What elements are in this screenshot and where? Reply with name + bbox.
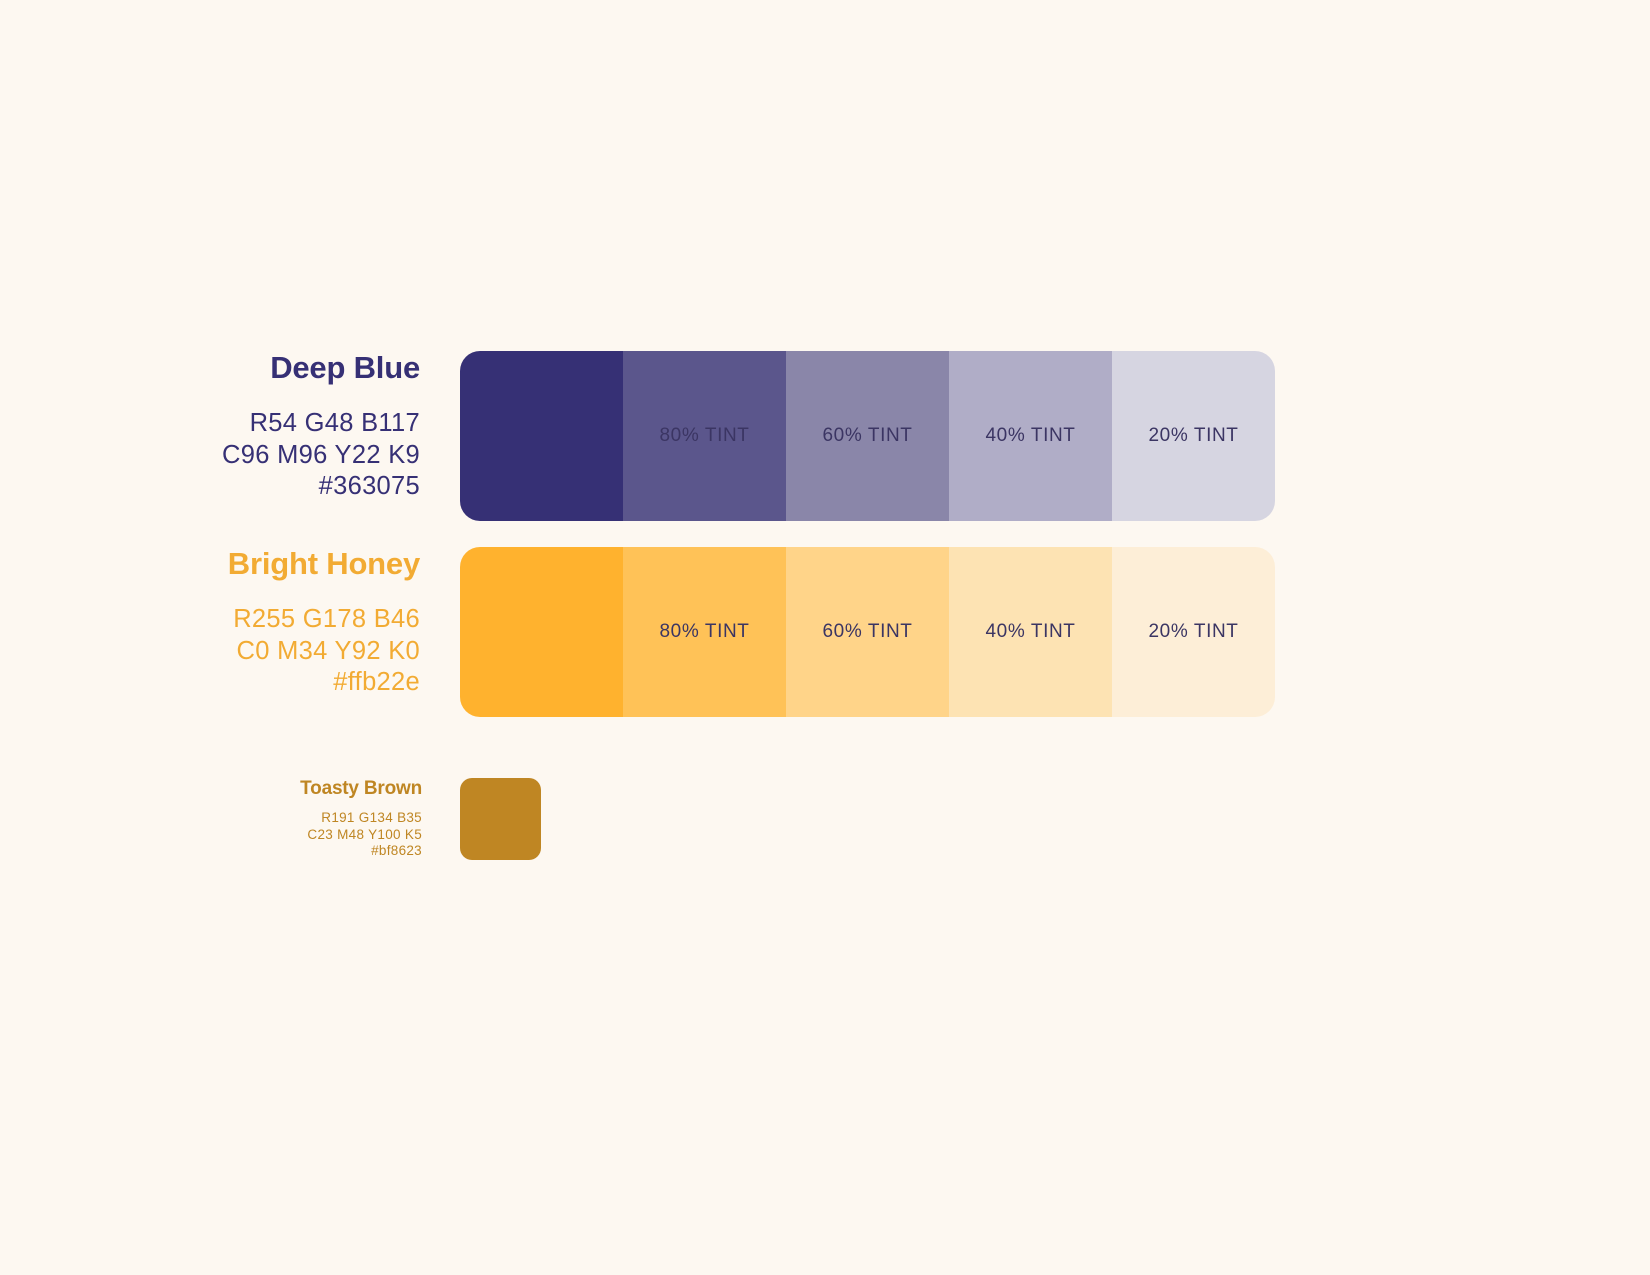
palette-row-bright-honey: Bright Honey R255 G178 B46 C0 M34 Y92 K0… (0, 547, 1275, 717)
color-hex-toasty-brown: #bf8623 (0, 843, 422, 860)
swatch-deep-blue-60[interactable]: 60% TINT (786, 351, 949, 521)
color-rgb-toasty-brown: R191 G134 B35 (0, 810, 422, 827)
tint-label: 40% TINT (986, 425, 1076, 447)
swatch-bright-honey-40[interactable]: 40% TINT (949, 547, 1112, 717)
swatch-toasty-brown-base[interactable] (460, 778, 541, 860)
color-name-toasty-brown: Toasty Brown (0, 778, 422, 800)
color-name-bright-honey: Bright Honey (0, 547, 420, 581)
swatch-bright-honey-base[interactable] (460, 547, 623, 717)
color-hex-bright-honey: #ffb22e (0, 667, 420, 699)
color-cmyk-bright-honey: C0 M34 Y92 K0 (0, 636, 420, 668)
tint-label: 60% TINT (823, 621, 913, 643)
swatch-deep-blue-base[interactable] (460, 351, 623, 521)
palette-row-labels: Toasty Brown R191 G134 B35 C23 M48 Y100 … (0, 778, 460, 860)
tint-label: 20% TINT (1149, 425, 1239, 447)
swatch-deep-blue-40[interactable]: 40% TINT (949, 351, 1112, 521)
palette-row-labels: Bright Honey R255 G178 B46 C0 M34 Y92 K0… (0, 547, 460, 699)
tint-label: 80% TINT (660, 425, 750, 447)
color-rgb-bright-honey: R255 G178 B46 (0, 604, 420, 636)
palette-row-toasty-brown: Toasty Brown R191 G134 B35 C23 M48 Y100 … (0, 778, 541, 860)
tint-label: 60% TINT (823, 425, 913, 447)
swatch-bright-honey-20[interactable]: 20% TINT (1112, 547, 1275, 717)
swatch-deep-blue-20[interactable]: 20% TINT (1112, 351, 1275, 521)
tint-bar-bright-honey: 80% TINT 60% TINT 40% TINT 20% TINT (460, 547, 1275, 717)
color-rgb-deep-blue: R54 G48 B117 (0, 408, 420, 440)
tint-label: 20% TINT (1149, 621, 1239, 643)
color-cmyk-toasty-brown: C23 M48 Y100 K5 (0, 827, 422, 844)
color-name-deep-blue: Deep Blue (0, 351, 420, 385)
tint-label: 40% TINT (986, 621, 1076, 643)
tint-label: 80% TINT (660, 621, 750, 643)
color-hex-deep-blue: #363075 (0, 471, 420, 503)
swatch-bright-honey-80[interactable]: 80% TINT (623, 547, 786, 717)
swatch-bright-honey-60[interactable]: 60% TINT (786, 547, 949, 717)
palette-row-labels: Deep Blue R54 G48 B117 C96 M96 Y22 K9 #3… (0, 351, 460, 503)
color-cmyk-deep-blue: C96 M96 Y22 K9 (0, 440, 420, 472)
palette-row-deep-blue: Deep Blue R54 G48 B117 C96 M96 Y22 K9 #3… (0, 351, 1275, 521)
tint-bar-deep-blue: 80% TINT 60% TINT 40% TINT 20% TINT (460, 351, 1275, 521)
color-palette-board: Deep Blue R54 G48 B117 C96 M96 Y22 K9 #3… (0, 0, 1650, 1275)
swatch-deep-blue-80[interactable]: 80% TINT (623, 351, 786, 521)
